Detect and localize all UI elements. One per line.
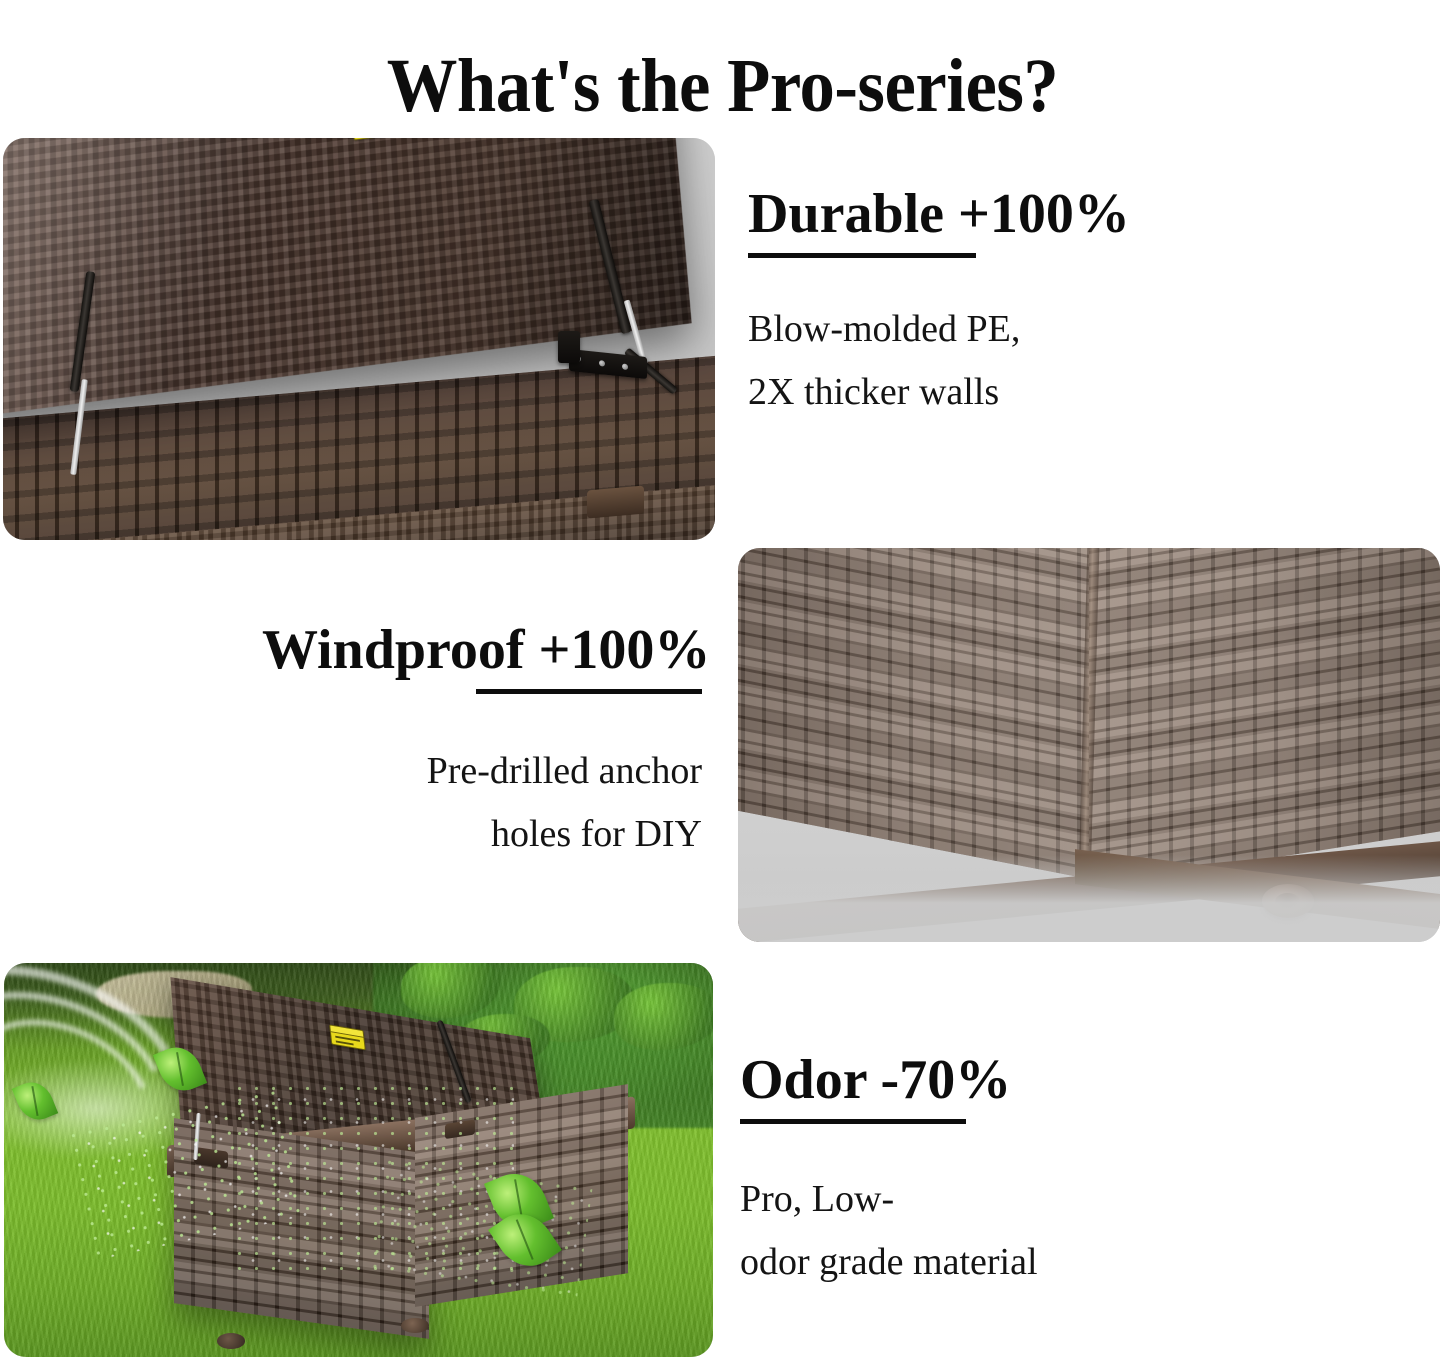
warning-label-text-line	[336, 1040, 354, 1045]
hinge-rivet	[622, 364, 628, 371]
image-corner-weave-closeup	[738, 548, 1440, 942]
feature-windproof: Windproof +100% Pre-drilled anchor holes…	[262, 622, 702, 865]
face-right-shading	[1089, 548, 1440, 887]
image-lawn-odor-scene	[4, 963, 713, 1357]
feature-body: Pre-drilled anchor holes for DIY	[262, 740, 702, 865]
corner-scene	[738, 548, 1440, 942]
feature-body: Pro, Low- odor grade material	[740, 1168, 1300, 1293]
feature-heading: Durable +100%	[748, 186, 1308, 243]
hinge-rivet	[599, 360, 605, 367]
feature-heading: Windproof +100%	[262, 622, 702, 679]
lid-latch	[587, 485, 644, 518]
lid-scene	[3, 138, 715, 540]
feature-durable: Durable +100% Blow-molded PE, 2X thicker…	[748, 186, 1308, 423]
image-lid-open-closeup	[3, 138, 715, 540]
box-caster-wheel	[217, 1333, 245, 1349]
box-face-right	[1089, 548, 1440, 887]
page-title: What's the Pro-series?	[51, 43, 1395, 130]
feature-underline	[740, 1119, 966, 1124]
feature-body: Blow-molded PE, 2X thicker walls	[748, 298, 1308, 423]
hinge-bracket	[558, 331, 579, 363]
feature-heading: Odor -70%	[740, 1052, 1300, 1109]
feature-odor: Odor -70% Pro, Low- odor grade material	[740, 1052, 1300, 1293]
feature-underline	[748, 253, 976, 258]
corner-floor-fade	[738, 855, 1440, 942]
feature-underline	[476, 689, 702, 694]
lawn-scene	[4, 963, 713, 1357]
